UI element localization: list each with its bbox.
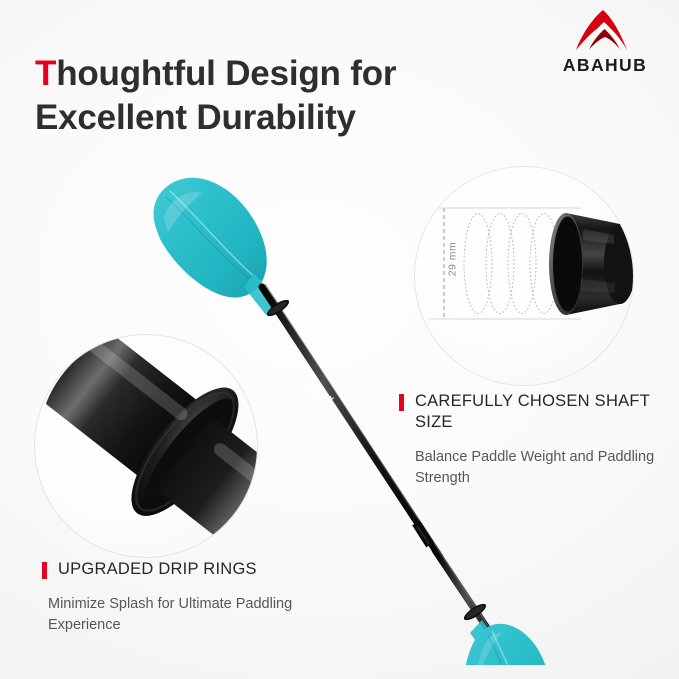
headline-line-1: houghtful Design for: [56, 54, 396, 93]
callout-drip-rings-subtitle: Minimize Splash for Ultimate Paddling Ex…: [48, 594, 342, 636]
drip-ring-bottom: [462, 601, 489, 623]
accent-bar-icon: [399, 394, 404, 411]
callout-shaft-size-title: CAREFULLY CHOSEN SHAFT SIZE: [415, 391, 661, 433]
paddle-blade-top: [154, 178, 267, 298]
product-feature-banner: ABAHUB Thoughtful Design for Excellent D…: [0, 0, 679, 679]
page-title: Thoughtful Design for Excellent Durabili…: [35, 52, 505, 141]
blade-wordmark-top: ABAHUB: [304, 383, 335, 403]
callout-drip-rings-title: UPGRADED DRIP RINGS: [58, 559, 257, 580]
callout-drip-rings-head: UPGRADED DRIP RINGS: [42, 559, 342, 580]
abahub-wave-a-icon: [573, 8, 637, 54]
drip-ring-top: [265, 297, 292, 319]
callout-shaft-size-subtitle: Balance Paddle Weight and Paddling Stren…: [415, 447, 661, 489]
callout-shaft-size-head: CAREFULLY CHOSEN SHAFT SIZE: [399, 391, 661, 433]
shaft-diameter-label: 29 mm: [446, 242, 458, 277]
paddle-blade-bottom: [463, 624, 550, 665]
brand-logo: ABAHUB: [546, 8, 664, 80]
accent-bar-icon: [42, 562, 47, 579]
headline-line-2: Excellent Durability: [35, 98, 356, 137]
callout-shaft-size: CAREFULLY CHOSEN SHAFT SIZE Balance Padd…: [399, 391, 661, 489]
callout-drip-rings: UPGRADED DRIP RINGS Minimize Splash for …: [42, 559, 342, 636]
shaft-size-inset: 29 mm: [414, 166, 634, 386]
shaft-ferrule: [416, 523, 430, 545]
drip-ring-closeup: [34, 334, 258, 558]
drip-ring-inset: [34, 334, 258, 558]
brand-wordmark: ABAHUB: [546, 55, 664, 76]
headline-lead-letter: T: [35, 54, 56, 93]
